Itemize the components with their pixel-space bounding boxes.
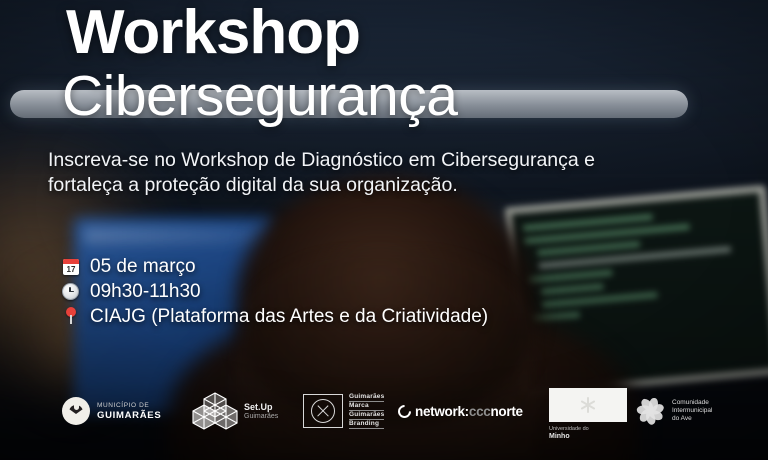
logo-universidade-do-minho: Universidade do Minho	[549, 388, 627, 441]
calendar-icon-day: 17	[63, 264, 79, 275]
poster-content: Workshop Cibersegurança Inscreva-se no W…	[0, 0, 768, 460]
setup-label-line1: Set.Up	[244, 402, 278, 412]
network-label-part1: network:	[415, 404, 469, 419]
event-details: 17 05 de março 09h30-11h30 CIAJG (Plataf…	[62, 256, 488, 331]
uminho-box-icon	[549, 388, 627, 422]
logo-municipio-guimaraes: MUNICÍPIO DE GUIMARÃES	[62, 397, 161, 425]
marca-label-lines: Guimarães Marca Guimarães Branding	[349, 393, 384, 430]
setup-hexmesh-icon	[192, 391, 238, 431]
network-c-icon	[395, 402, 413, 420]
clock-icon	[62, 282, 81, 301]
cim-label-line1: Comunidade	[672, 399, 712, 407]
detail-row-location: CIAJG (Plataforma das Artes e da Criativ…	[62, 306, 488, 327]
uminho-label-line2: Minho	[549, 433, 570, 441]
setup-label-line2: Guimarães	[244, 412, 278, 421]
page-title: Workshop	[66, 0, 360, 68]
page-subtitle: Cibersegurança	[62, 62, 457, 130]
network-label-part2: ccc	[469, 404, 491, 419]
logo-comunidade-intermunicipal-do-ave: Comunidade Intermunicipal do Ave	[636, 396, 712, 426]
event-time: 09h30-11h30	[90, 281, 201, 302]
cim-label-line2: Intermunicipal	[672, 407, 712, 415]
municipio-label-line1: MUNICÍPIO DE	[97, 401, 161, 410]
marca-label-line2: Marca	[349, 402, 384, 411]
network-label-part3: norte	[490, 404, 522, 419]
detail-row-date: 17 05 de março	[62, 256, 488, 277]
detail-row-time: 09h30-11h30	[62, 281, 488, 302]
cim-label-lines: Comunidade Intermunicipal do Ave	[672, 399, 712, 423]
marca-circle-x-icon	[303, 394, 343, 428]
municipio-label-line2: GUIMARÃES	[97, 410, 161, 421]
network-label: network:cccnorte	[415, 404, 523, 419]
map-pin-icon	[62, 307, 81, 326]
cim-pinwheel-icon	[636, 396, 666, 426]
marca-label-line3: Guimarães	[349, 411, 384, 420]
marca-label-line1: Guimarães	[349, 393, 384, 402]
municipio-crest-icon	[62, 397, 90, 425]
logo-guimaraes-marca-branding: Guimarães Marca Guimarães Branding	[303, 393, 384, 430]
description-text: Inscreva-se no Workshop de Diagnóstico e…	[48, 148, 668, 197]
event-date: 05 de março	[90, 256, 196, 277]
event-poster: Workshop Cibersegurança Inscreva-se no W…	[0, 0, 768, 460]
calendar-icon: 17	[62, 257, 81, 276]
marca-label-line4: Branding	[349, 420, 384, 429]
logo-set-up-guimaraes: Set.Up Guimarães	[192, 391, 278, 431]
uminho-label-line1: Universidade do	[549, 426, 589, 433]
cim-label-line3: do Ave	[672, 415, 712, 423]
uminho-star-icon	[579, 396, 597, 414]
partner-logo-strip: MUNICÍPIO DE GUIMARÃES	[0, 388, 768, 434]
event-location: CIAJG (Plataforma das Artes e da Criativ…	[90, 306, 488, 327]
logo-network-cccnorte: network:cccnorte	[398, 404, 523, 419]
